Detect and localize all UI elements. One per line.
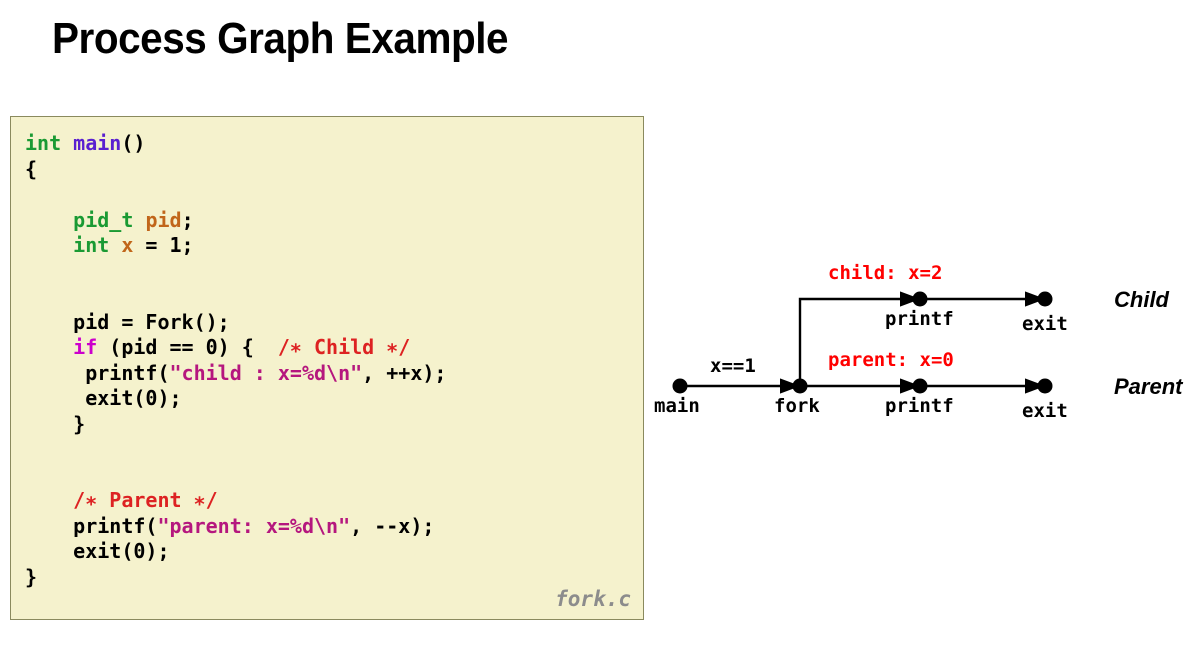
code-token: x [121,233,133,257]
code-token: /∗ Parent ∗/ [73,488,218,512]
code-token: () [121,131,145,155]
edge-label-parent-print: parent: x=0 [828,349,954,371]
code-token: "child : x=%d\n" [170,361,363,385]
code-token: ; [182,208,194,232]
code-token: main [73,131,121,155]
code-token: printf( [25,361,170,385]
code-token: exit(0); [25,386,182,410]
code-token [25,488,73,512]
code-token: exit(0); [25,539,170,563]
code-line [25,284,446,310]
code-token: pid_t [73,208,133,232]
code-token [25,233,73,257]
code-token: int [25,131,61,155]
code-line [25,463,446,489]
code-token: (pid == 0) { [97,335,278,359]
code-token: , ++x); [362,361,446,385]
code-token: pid [145,208,181,232]
code-token: printf( [25,514,157,538]
node-label-main: main [654,395,700,417]
code-line: exit(0); [25,386,446,412]
code-token: , --x); [350,514,434,538]
node-child-exit [1038,292,1053,307]
code-listing: int main(){ pid_t pid; int x = 1; pid = … [25,131,446,590]
code-token [109,233,121,257]
code-token: = 1; [133,233,193,257]
code-token: { [25,157,37,181]
code-token: int [73,233,109,257]
code-line: printf("child : x=%d\n", ++x); [25,361,446,387]
code-line: } [25,412,446,438]
code-line [25,182,446,208]
row-label-parent: Parent [1114,374,1182,400]
code-line: } [25,565,446,591]
code-token: pid = Fork(); [25,310,230,334]
code-line: int main() [25,131,446,157]
code-line: pid_t pid; [25,208,446,234]
code-line: /∗ Parent ∗/ [25,488,446,514]
code-token: } [25,565,37,589]
code-line [25,437,446,463]
code-line: { [25,157,446,183]
code-token [133,208,145,232]
node-parent-printf [913,379,928,394]
row-label-child: Child [1114,287,1169,313]
code-token: /∗ Child ∗/ [278,335,410,359]
page-title: Process Graph Example [52,14,508,64]
code-token: "parent: x=%d\n" [157,514,350,538]
edge-label-x-equals-1: x==1 [710,355,756,377]
code-line: printf("parent: x=%d\n", --x); [25,514,446,540]
code-token [25,335,73,359]
code-token: if [73,335,97,359]
node-label-parent-printf: printf [885,395,954,417]
node-label-fork: fork [774,395,820,417]
code-line: exit(0); [25,539,446,565]
code-token [61,131,73,155]
node-label-child-printf: printf [885,308,954,330]
code-token: } [25,412,85,436]
node-fork [793,379,808,394]
source-file-label: fork.c [555,587,631,611]
code-line: pid = Fork(); [25,310,446,336]
node-parent-exit [1038,379,1053,394]
code-line [25,259,446,285]
node-child-printf [913,292,928,307]
code-line: if (pid == 0) { /∗ Child ∗/ [25,335,446,361]
code-token [25,208,73,232]
node-label-parent-exit: exit [1022,400,1068,422]
code-line: int x = 1; [25,233,446,259]
node-label-child-exit: exit [1022,313,1068,335]
process-graph: x==1 child: x=2 parent: x=0 main fork pr… [648,255,1187,435]
node-main [673,379,688,394]
code-panel: int main(){ pid_t pid; int x = 1; pid = … [10,116,644,620]
edge-label-child-print: child: x=2 [828,262,942,284]
